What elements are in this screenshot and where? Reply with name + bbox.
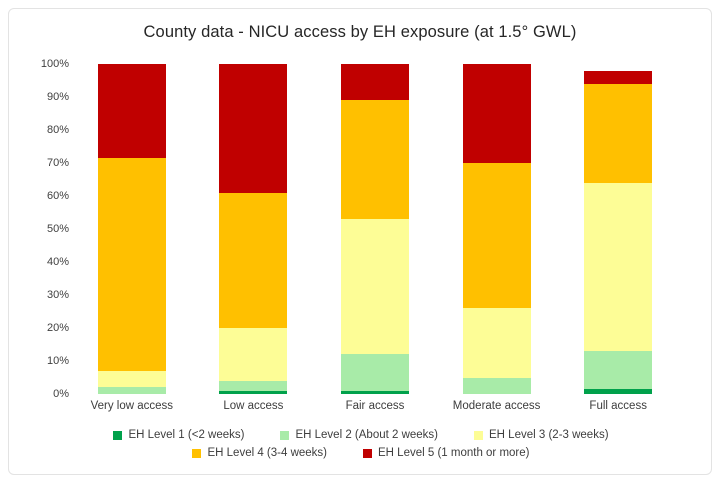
bar-segment[interactable] [98, 371, 166, 388]
bar-segment[interactable] [341, 100, 409, 219]
bar-segment[interactable] [341, 354, 409, 390]
x-axis-category-label: Fair access [346, 400, 405, 412]
bar-segment[interactable] [219, 391, 287, 394]
bar-segment[interactable] [341, 219, 409, 354]
bar-segment[interactable] [341, 391, 409, 394]
chart-container: County data - NICU access by EH exposure… [8, 8, 712, 475]
bar-segment[interactable] [219, 193, 287, 328]
bar-segment[interactable] [98, 387, 166, 394]
legend-row-2: EH Level 4 (3-4 weeks)EH Level 5 (1 mont… [9, 447, 713, 459]
bar-segment[interactable] [584, 389, 652, 394]
legend-label: EH Level 4 (3-4 weeks) [207, 447, 327, 459]
legend-swatch-icon [280, 431, 289, 440]
stacked-bar[interactable] [341, 64, 409, 394]
plot-area: Very low accessLow accessFair accessMode… [71, 56, 679, 394]
y-axis-tick: 70% [21, 157, 69, 169]
bar-slot: Fair access [314, 64, 436, 394]
y-axis-tick: 80% [21, 124, 69, 136]
bar-segment[interactable] [219, 328, 287, 381]
legend-item[interactable]: EH Level 4 (3-4 weeks) [192, 447, 327, 459]
legend-swatch-icon [474, 431, 483, 440]
y-axis-tick: 100% [21, 58, 69, 70]
y-axis-tick: 30% [21, 289, 69, 301]
bar-segment[interactable] [219, 381, 287, 391]
y-axis-tick: 0% [21, 388, 69, 400]
x-axis-category-label: Full access [589, 400, 647, 412]
bar-segment[interactable] [98, 64, 166, 158]
legend-item[interactable]: EH Level 3 (2-3 weeks) [474, 429, 609, 441]
bar-slot: Very low access [71, 64, 193, 394]
legend-label: EH Level 1 (<2 weeks) [128, 429, 244, 441]
legend-row-1: EH Level 1 (<2 weeks)EH Level 2 (About 2… [9, 429, 713, 441]
stacked-bar[interactable] [98, 64, 166, 394]
bar-group: Very low accessLow accessFair accessMode… [71, 64, 679, 394]
bar-segment[interactable] [463, 64, 531, 163]
bar-segment[interactable] [584, 351, 652, 389]
bar-segment[interactable] [219, 64, 287, 193]
stacked-bar[interactable] [584, 71, 652, 394]
legend-swatch-icon [192, 449, 201, 458]
bar-segment[interactable] [463, 308, 531, 377]
bar-segment[interactable] [463, 163, 531, 308]
y-axis-tick: 40% [21, 256, 69, 268]
legend-swatch-icon [113, 431, 122, 440]
y-axis-tick: 60% [21, 190, 69, 202]
stacked-bar[interactable] [463, 64, 531, 394]
legend-item[interactable]: EH Level 5 (1 month or more) [363, 447, 529, 459]
bar-segment[interactable] [584, 71, 652, 84]
x-axis-category-label: Moderate access [453, 400, 541, 412]
bar-segment[interactable] [98, 158, 166, 371]
y-axis-tick-labels: 100%90%80%70%60%50%40%30%20%10%0% [21, 56, 69, 394]
y-axis-tick: 20% [21, 322, 69, 334]
x-axis-category-label: Low access [223, 400, 283, 412]
y-axis-tick: 50% [21, 223, 69, 235]
legend-item[interactable]: EH Level 2 (About 2 weeks) [280, 429, 438, 441]
bar-segment[interactable] [341, 64, 409, 100]
legend-label: EH Level 2 (About 2 weeks) [295, 429, 438, 441]
bar-segment[interactable] [584, 84, 652, 183]
bar-segment[interactable] [463, 378, 531, 395]
chart-title: County data - NICU access by EH exposure… [9, 23, 711, 42]
legend-label: EH Level 5 (1 month or more) [378, 447, 529, 459]
chart-legend: EH Level 1 (<2 weeks)EH Level 2 (About 2… [9, 429, 713, 465]
legend-label: EH Level 3 (2-3 weeks) [489, 429, 609, 441]
bar-segment[interactable] [584, 183, 652, 351]
legend-swatch-icon [363, 449, 372, 458]
stacked-bar[interactable] [219, 64, 287, 394]
y-axis-tick: 90% [21, 91, 69, 103]
bar-slot: Low access [193, 64, 315, 394]
bar-slot: Moderate access [436, 64, 558, 394]
y-axis-tick: 10% [21, 355, 69, 367]
x-axis-category-label: Very low access [91, 400, 173, 412]
bar-slot: Full access [557, 64, 679, 394]
legend-item[interactable]: EH Level 1 (<2 weeks) [113, 429, 244, 441]
